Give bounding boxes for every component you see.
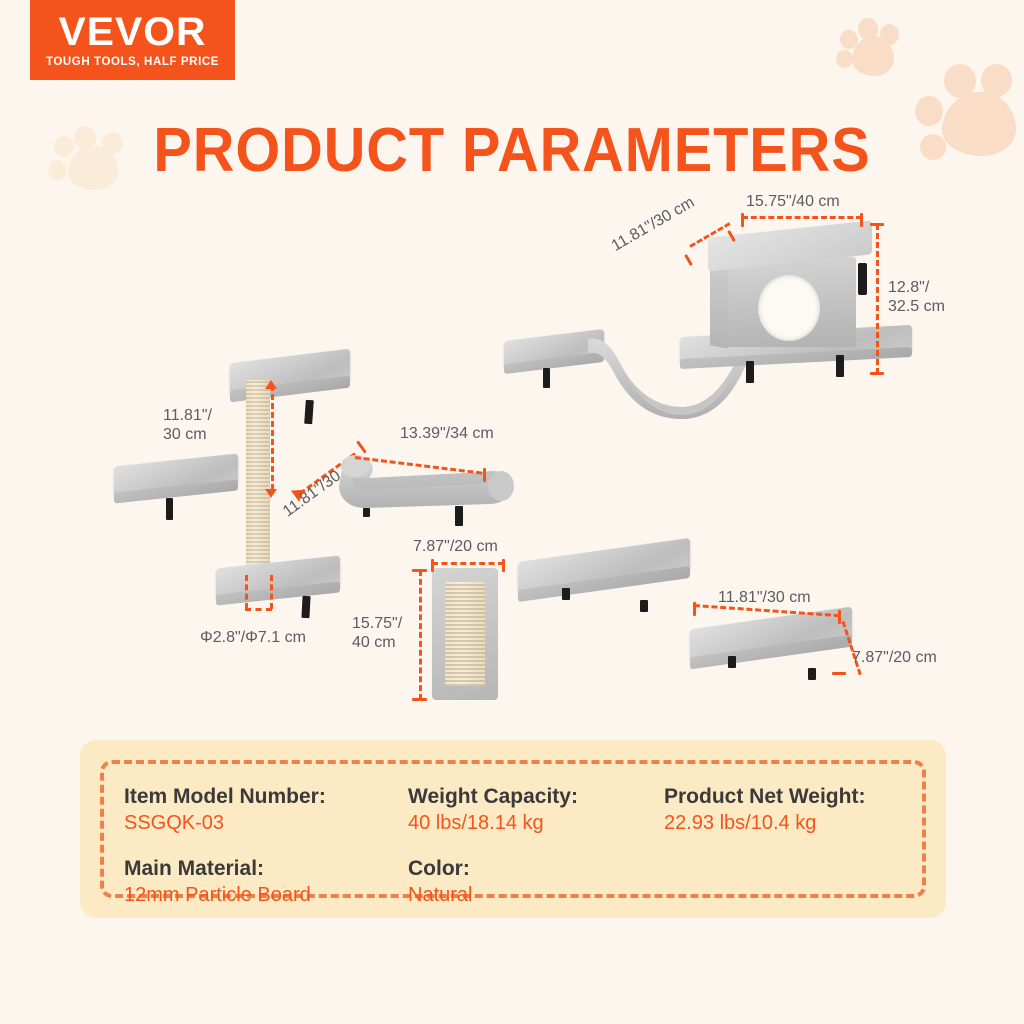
dim-arrow-tower-gap-bottom	[265, 489, 277, 498]
vevor-logo: VEVOR TOUGH TOOLS, HALF PRICE	[30, 0, 235, 80]
spec-label-model-number: Item Model Number:	[124, 784, 326, 809]
dim-line-post-dia-left	[245, 575, 248, 609]
spec-value-model-number: SSGQK-03	[124, 811, 326, 835]
dim-line-post-dia-right	[270, 575, 273, 609]
wall-shelf-middle	[518, 550, 690, 606]
bracket-shelf-middle-left	[562, 588, 570, 600]
dim-tick-bed-width-right	[483, 468, 486, 482]
dim-label-scratcher-width: 7.87"/20 cm	[413, 537, 498, 556]
dim-tick-condo-height-top	[870, 223, 884, 226]
paw-print-decoration-top-right-small	[836, 18, 906, 80]
dim-label-shelf-width: 11.81"/30 cm	[718, 588, 811, 607]
spec-value-color: Natural	[408, 883, 472, 907]
dim-tick-scratcher-width-right	[502, 559, 505, 572]
bracket-shelf-br-right	[808, 668, 816, 680]
dim-line-post-dia-bottom	[245, 608, 272, 611]
scratching-board-sisal-pad	[445, 582, 485, 686]
dim-label-post-diameter: Φ2.8"/Φ7.1 cm	[200, 628, 306, 647]
bracket-tower-bottom	[301, 596, 310, 618]
bracket-shelf-middle-right	[640, 600, 648, 612]
spec-item-weight-capacity: Weight Capacity: 40 lbs/18.14 kg	[408, 784, 578, 835]
dim-tick-shelf-depth-bottom	[832, 672, 846, 675]
dim-tick-condo-height-bottom	[870, 372, 884, 375]
bracket-condo-left	[543, 368, 550, 388]
dim-tick-condo-width-right	[860, 213, 863, 227]
specifications-grid: Item Model Number: SSGQK-03 Weight Capac…	[124, 784, 906, 888]
condo-entrance-hole	[758, 275, 820, 341]
bracket-shelf-br-left	[728, 656, 736, 668]
bracket-tower-upper	[304, 400, 314, 424]
bracket-condo-right	[836, 355, 844, 377]
spec-item-model-number: Item Model Number: SSGQK-03	[124, 784, 326, 835]
dim-label-bed-width: 13.39"/34 cm	[400, 424, 494, 443]
wall-shelf-bottom-right	[690, 618, 852, 674]
spec-label-weight-capacity: Weight Capacity:	[408, 784, 578, 809]
logo-wordmark: VEVOR	[59, 12, 207, 52]
spec-label-color: Color:	[408, 856, 472, 881]
spec-value-net-weight: 22.93 lbs/10.4 kg	[664, 811, 865, 835]
bracket-tower-lower	[166, 498, 173, 520]
dim-line-tower-gap	[271, 385, 274, 490]
specifications-panel: Item Model Number: SSGQK-03 Weight Capac…	[80, 740, 946, 918]
dim-label-shelf-depth: 7.87"/20 cm	[852, 648, 937, 667]
spec-item-color: Color: Natural	[408, 856, 472, 907]
dim-line-scratcher-height	[419, 570, 422, 700]
spec-item-main-material: Main Material: 12mm Particle Board	[124, 856, 311, 907]
spec-value-weight-capacity: 40 lbs/18.14 kg	[408, 811, 578, 835]
scratching-board	[432, 568, 498, 700]
dim-label-scratcher-height: 15.75"/ 40 cm	[352, 614, 402, 652]
dim-line-condo-height	[876, 224, 879, 374]
dim-label-tower-gap: 11.81"/ 30 cm	[163, 406, 212, 444]
bracket-condo-mid	[746, 361, 754, 383]
bracket-condo-box	[858, 263, 867, 295]
page-title: PRODUCT PARAMETERS	[36, 115, 988, 186]
bracket-cat-bed-left	[363, 508, 370, 517]
dim-label-condo-height: 12.8"/ 32.5 cm	[888, 278, 945, 316]
dim-label-condo-width: 15.75"/40 cm	[746, 192, 840, 211]
bracket-cat-bed-right	[455, 506, 463, 526]
infographic-canvas: VEVOR TOUGH TOOLS, HALF PRICE PRODUCT PA…	[0, 0, 1024, 1024]
dim-tick-scratcher-height-bottom	[412, 698, 427, 701]
dim-arrow-tower-gap-top	[265, 380, 277, 389]
spec-label-net-weight: Product Net Weight:	[664, 784, 865, 809]
wall-condo-assembly	[500, 225, 920, 415]
logo-tagline: TOUGH TOOLS, HALF PRICE	[46, 56, 219, 68]
spec-item-net-weight: Product Net Weight: 22.93 lbs/10.4 kg	[664, 784, 865, 835]
dim-line-condo-width	[742, 216, 862, 219]
cat-bed-cradle	[335, 450, 535, 520]
dim-line-scratcher-width	[432, 562, 504, 565]
spec-value-main-material: 12mm Particle Board	[124, 883, 311, 907]
dim-tick-shelf-width-left	[693, 602, 696, 616]
dim-tick-shelf-width-right	[838, 610, 841, 624]
dim-tick-scratcher-height-top	[412, 569, 427, 572]
dim-tick-condo-width-left	[741, 213, 744, 227]
spec-label-main-material: Main Material:	[124, 856, 311, 881]
dim-tick-scratcher-width-left	[431, 559, 434, 572]
condo-box-side	[710, 259, 728, 348]
